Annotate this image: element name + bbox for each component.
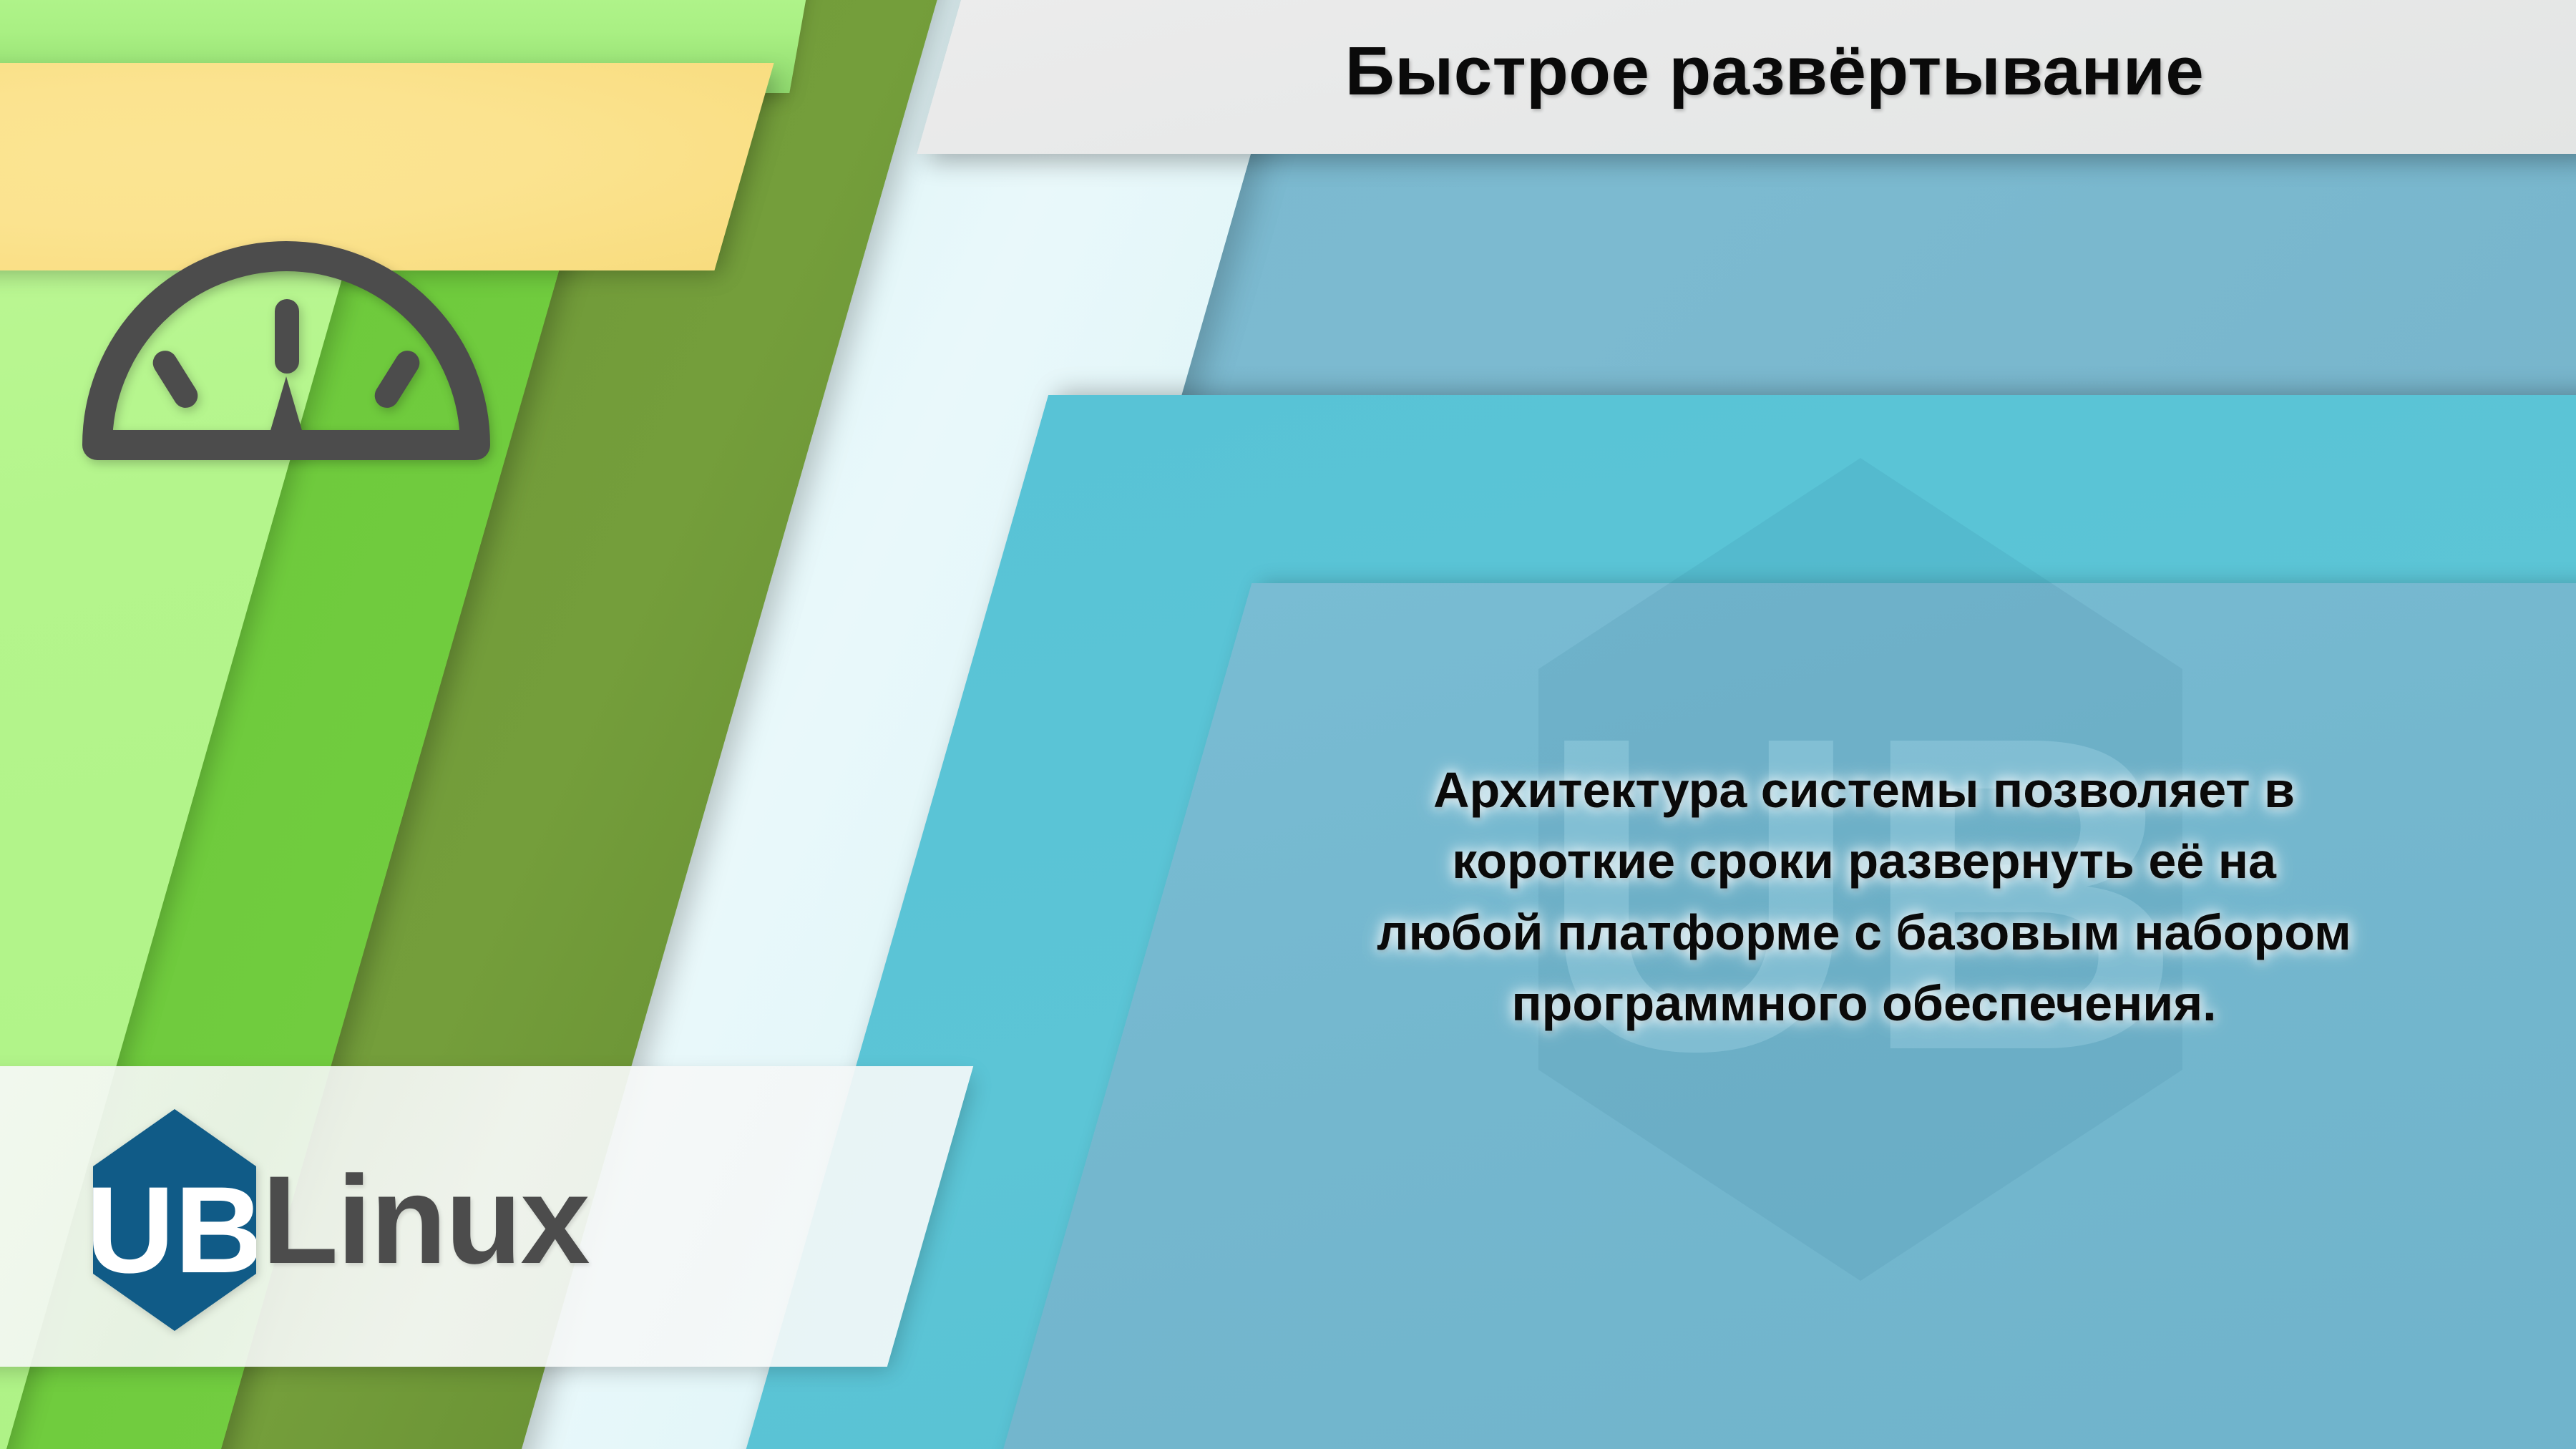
svg-text:UB: UB: [93, 1161, 256, 1299]
page-title: Быстрое развёртывание: [1023, 14, 2526, 129]
body-text-line: короткие сроки развернуть её на: [1174, 826, 2555, 897]
body-text-line: любой платформе с базовым набором: [1174, 897, 2555, 968]
ub-linux-logo: UB Linux: [93, 1106, 589, 1335]
slide-canvas: UB Быстрое развёртывание Архитектура сис…: [0, 0, 2576, 1449]
body-text-line: программного обеспечения.: [1174, 968, 2555, 1039]
ub-hexagon-logo-icon: UB: [93, 1109, 256, 1331]
logo-wordmark: Linux: [262, 1158, 589, 1283]
body-text-block: Архитектура системы позволяет в короткие…: [1174, 755, 2555, 1040]
speedometer-icon: [57, 179, 515, 479]
body-text-line: Архитектура системы позволяет в: [1174, 755, 2555, 826]
